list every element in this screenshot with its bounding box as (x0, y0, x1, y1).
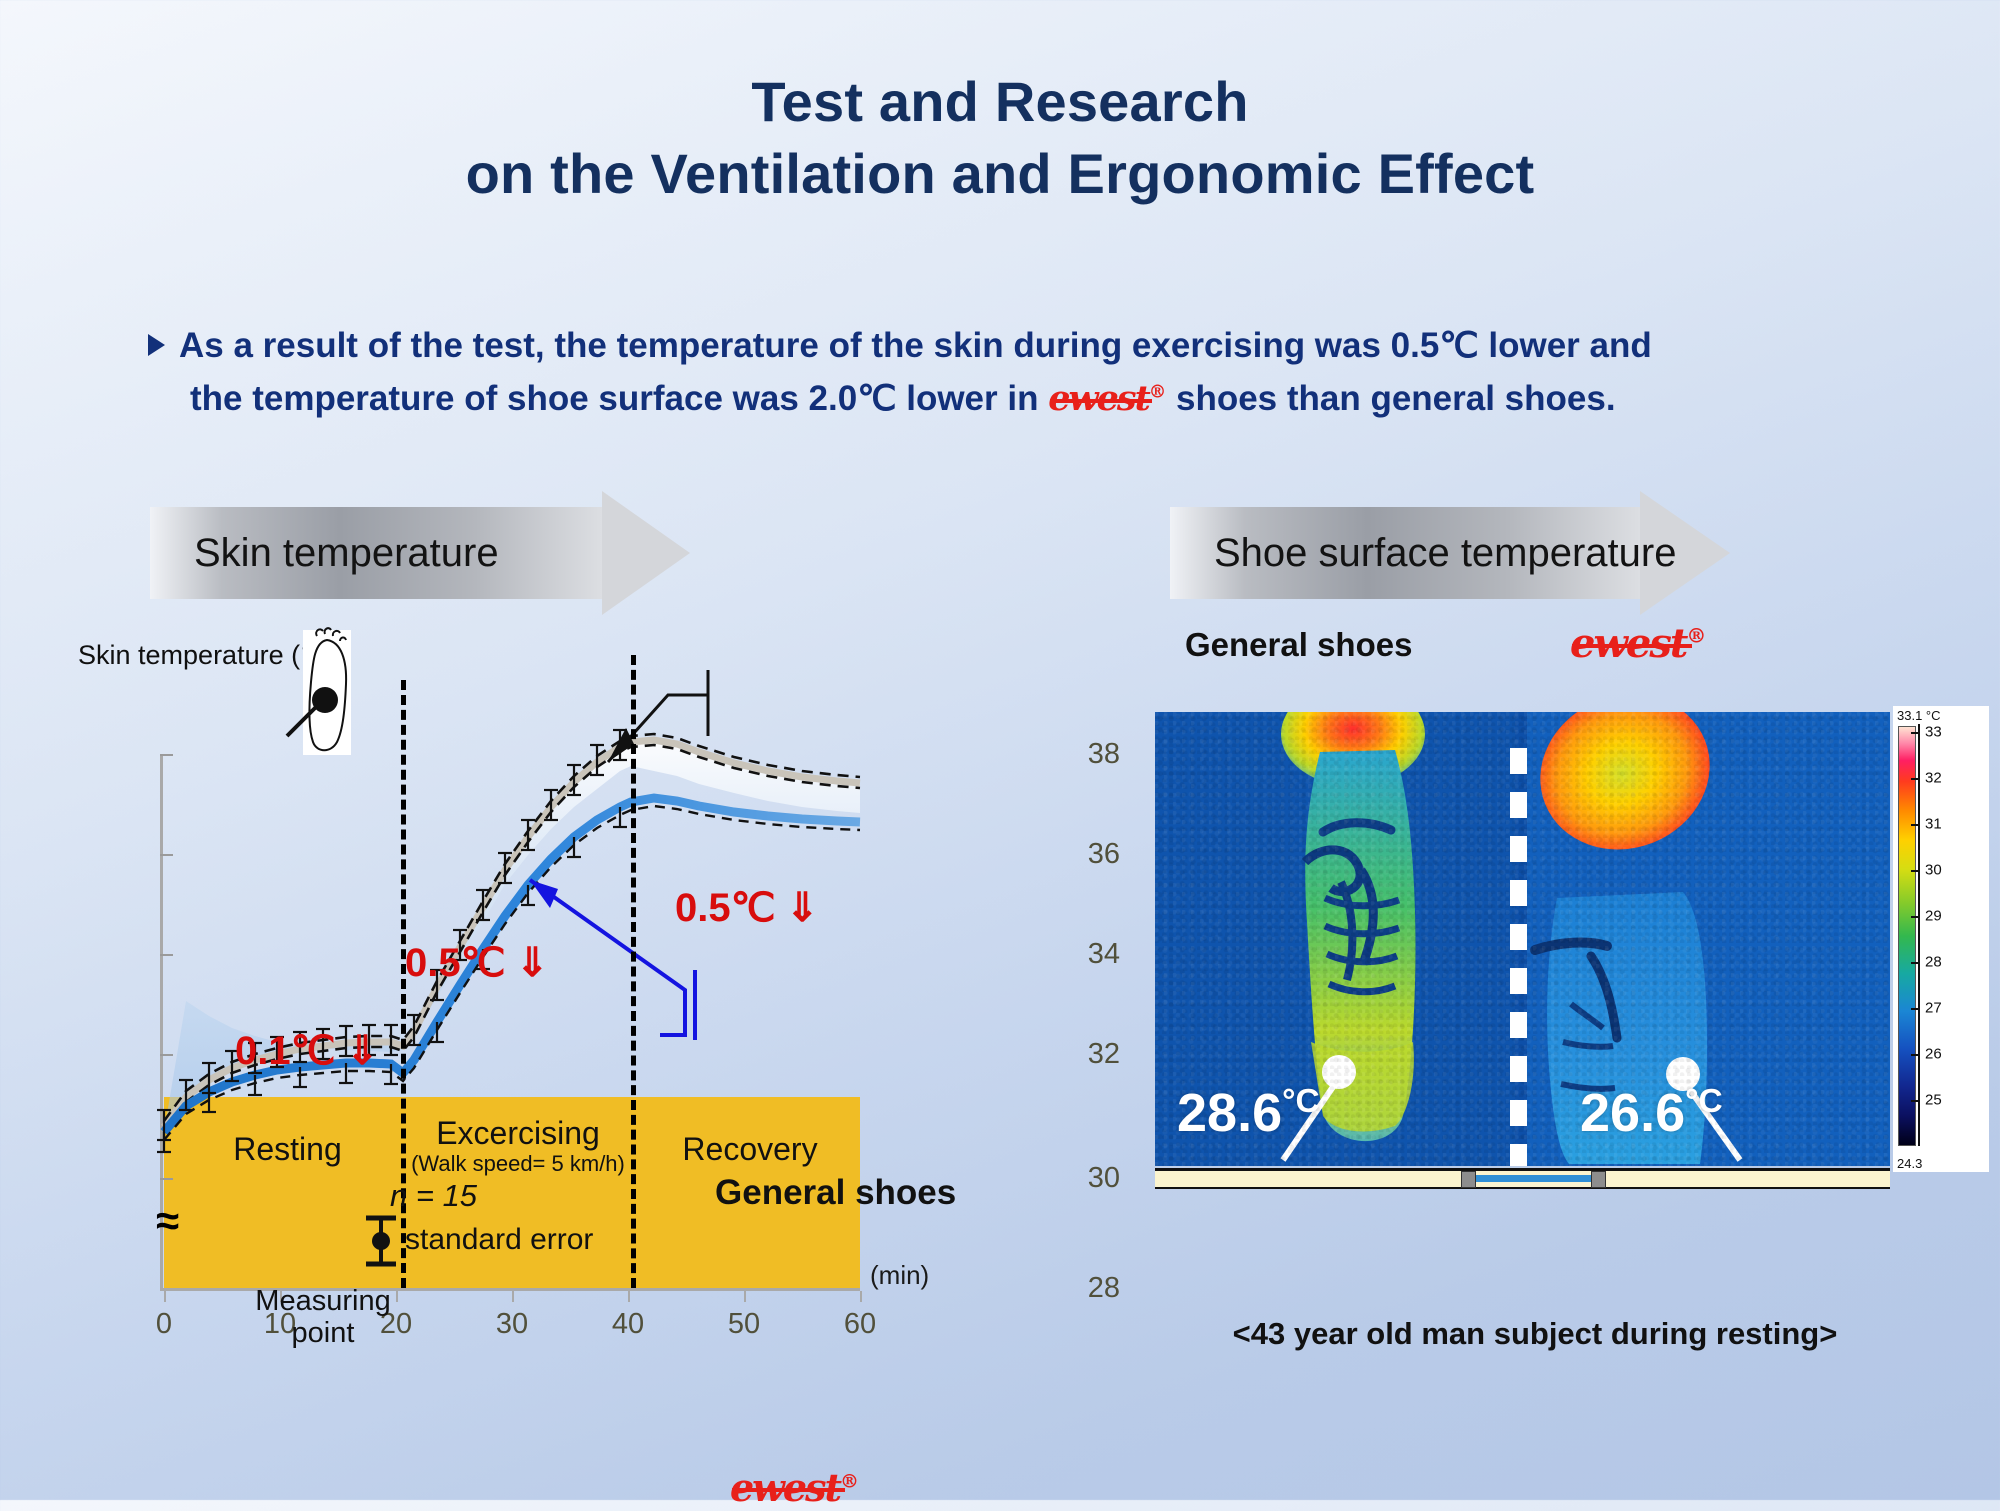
y-tick-mark-38 (160, 754, 173, 756)
colorbar-label-33: 33 (1925, 724, 1942, 741)
thermal-right-temperature: 26.6°C (1580, 1082, 1723, 1144)
phase-divider-recovery-start (631, 655, 636, 1288)
slide-root: Test and Research on the Ventilation and… (0, 0, 2000, 1500)
colorbar-tick-30 (1911, 870, 1920, 872)
colorbar-tick-25 (1911, 1100, 1920, 1102)
down-double-arrow-icon: ⇓ (516, 940, 550, 986)
bullet-line2-d: shoes than general shoes. (1166, 379, 1615, 418)
thermal-divider-dashed-line (1510, 748, 1527, 1166)
colorbar-min-label: 24.3 (1897, 1156, 1922, 1171)
measuring-point-line2: point (238, 1317, 408, 1349)
slider-track[interactable] (1467, 1175, 1597, 1182)
thermal-range-slider[interactable] (1155, 1168, 1890, 1189)
title-line-2: on the Ventilation and Ergonomic Effect (0, 138, 2000, 210)
y-tick-label-36: 36 (1058, 838, 1120, 871)
x-tick-40 (628, 1291, 630, 1302)
bullet-line-2: the temperature of shoe surface was 2.0℃… (190, 373, 1888, 426)
colorbar-label-31: 31 (1925, 816, 1942, 833)
standard-error-icon (360, 1210, 402, 1272)
annotation-delta-resting: 0.1℃⇓ (235, 1028, 379, 1074)
y-tick-label-32: 32 (1058, 1038, 1120, 1071)
phase-recovery-text: Recovery (645, 1133, 855, 1167)
ewest-leader-line (530, 880, 695, 1040)
bullet-line1-degree: ℃ (1439, 326, 1478, 365)
colorbar-axis-line (1918, 724, 1920, 1146)
legend-general-shoes-label: General shoes (715, 1173, 956, 1213)
ewest-thermal-logo: ewest® (1570, 620, 1706, 667)
phase-label-resting: Resting (180, 1133, 395, 1167)
colorbar-tick-31 (1911, 824, 1920, 826)
slider-handle-right (1591, 1171, 1606, 1188)
colorbar-label-27: 27 (1925, 1000, 1942, 1017)
legend-sample-size: n = 15 (390, 1178, 477, 1214)
annotation-recovery-value: 0.5℃ (675, 886, 776, 930)
x-axis-unit-label: (min) (870, 1260, 929, 1291)
colorbar-tick-33 (1911, 732, 1920, 734)
down-double-arrow-icon: ⇓ (346, 1028, 380, 1074)
thermal-image-panel: General shoes ewest® (1155, 648, 1995, 1418)
banner-skin-temperature: Skin temperature (150, 507, 690, 599)
thermal-left-temp-unit: °C (1282, 1083, 1320, 1120)
ewest-brand-logo: ewest® (1048, 378, 1166, 419)
x-tick-label-40: 40 (598, 1308, 658, 1341)
x-tick-label-50: 50 (714, 1308, 774, 1341)
thermal-caption: <43 year old man subject during resting> (1155, 1316, 1915, 1352)
phase-label-exercising: Excercising (Walk speed= 5 km/h) (408, 1117, 628, 1177)
colorbar-tick-28 (1911, 962, 1920, 964)
x-tick-0 (164, 1291, 166, 1302)
page-title: Test and Research on the Ventilation and… (0, 66, 2000, 209)
phase-exercising-subtext: (Walk speed= 5 km/h) (408, 1151, 628, 1177)
x-tick-label-0: 0 (134, 1308, 194, 1341)
ewest-underline (1572, 644, 1692, 648)
foot-measuring-point-icon (245, 612, 390, 777)
bullet-line1-a: As a result of the test, the temperature… (179, 326, 1439, 365)
measuring-point-caption: Measuring point (238, 1285, 408, 1350)
slider-handle-left (1461, 1171, 1476, 1188)
ewest-underline (1050, 399, 1152, 403)
skin-temperature-chart: Skin temperature (℃) (60, 640, 1120, 1400)
thermal-right-temp-value: 26.6 (1580, 1083, 1685, 1143)
measuring-point-line1: Measuring (238, 1285, 408, 1317)
colorbar-gradient (1898, 726, 1916, 1146)
y-tick-mark-30 (160, 1178, 173, 1180)
axis-break-icon: ≈ (156, 1200, 179, 1242)
phase-exercising-text: Excercising (408, 1117, 628, 1151)
banner-shoe-label: Shoe surface temperature (1214, 507, 1676, 599)
y-tick-mark-36 (160, 854, 173, 856)
bullet-line2-a: the temperature of shoe surface was 2.0 (190, 379, 857, 418)
colorbar-label-28: 28 (1925, 954, 1942, 971)
thermal-left-temperature: 28.6°C (1177, 1082, 1320, 1144)
legend-ewest-label: ewest® (730, 1465, 859, 1511)
thermal-left-label: General shoes (1185, 626, 1412, 664)
y-tick-mark-32 (160, 1054, 173, 1056)
summary-bullet: As a result of the test, the temperature… (148, 320, 1888, 425)
phase-resting-text: Resting (180, 1133, 395, 1167)
colorbar-max-label: 33.1 °C (1897, 708, 1941, 723)
colorbar-tick-29 (1911, 916, 1920, 918)
bullet-line2-c: lower in (897, 379, 1049, 418)
colorbar-label-26: 26 (1925, 1046, 1942, 1063)
banner-skin-label: Skin temperature (194, 507, 499, 599)
thermal-right-label: ewest® (1570, 620, 1706, 667)
y-tick-label-28: 28 (1058, 1272, 1120, 1305)
ewest-underline (732, 1488, 845, 1492)
colorbar-label-32: 32 (1925, 770, 1942, 787)
banner-arrow-head-icon (602, 491, 690, 615)
bullet-line1-c: lower and (1479, 326, 1652, 365)
colorbar-tick-26 (1911, 1054, 1920, 1056)
thermal-colorbar: 33.1 °C 33 32 31 30 29 28 27 26 25 24.3 (1893, 706, 1989, 1172)
colorbar-tick-32 (1911, 778, 1920, 780)
thermal-left-temp-value: 28.6 (1177, 1083, 1282, 1143)
legend-standard-error-label: standard error (405, 1223, 593, 1257)
down-double-arrow-icon: ⇓ (786, 885, 820, 931)
y-tick-label-30: 30 (1058, 1162, 1120, 1195)
x-tick-50 (744, 1291, 746, 1302)
thermal-right-temp-unit: °C (1685, 1083, 1723, 1120)
x-tick-label-30: 30 (482, 1308, 542, 1341)
bullet-line2-degree: ℃ (857, 379, 896, 418)
colorbar-label-29: 29 (1925, 908, 1942, 925)
bullet-triangle-icon (148, 334, 165, 356)
colorbar-tick-27 (1911, 1008, 1920, 1010)
colorbar-label-25: 25 (1925, 1092, 1942, 1109)
banner-shoe-surface-temperature: Shoe surface temperature (1170, 507, 1730, 599)
phase-label-recovery: Recovery (645, 1133, 855, 1167)
annotation-delta-recovery: 0.5℃⇓ (675, 885, 819, 931)
title-line-1: Test and Research (751, 70, 1248, 133)
thermal-image: 28.6°C 26.6°C (1155, 712, 1890, 1166)
y-tick-label-38: 38 (1058, 738, 1120, 771)
legend-n-text: n = 15 (390, 1178, 477, 1213)
x-tick-30 (512, 1291, 514, 1302)
chart-plot-area (60, 640, 1120, 1400)
annotation-delta-exercising: 0.5℃⇓ (405, 940, 549, 986)
ewest-chart-logo: ewest® (730, 1465, 859, 1510)
annotation-exercising-value: 0.5℃ (405, 941, 506, 985)
annotation-resting-value: 0.1℃ (235, 1029, 336, 1073)
y-tick-label-34: 34 (1058, 938, 1120, 971)
y-tick-mark-34 (160, 954, 173, 956)
x-tick-label-60: 60 (830, 1308, 890, 1341)
colorbar-label-30: 30 (1925, 862, 1942, 879)
x-tick-60 (860, 1291, 862, 1302)
